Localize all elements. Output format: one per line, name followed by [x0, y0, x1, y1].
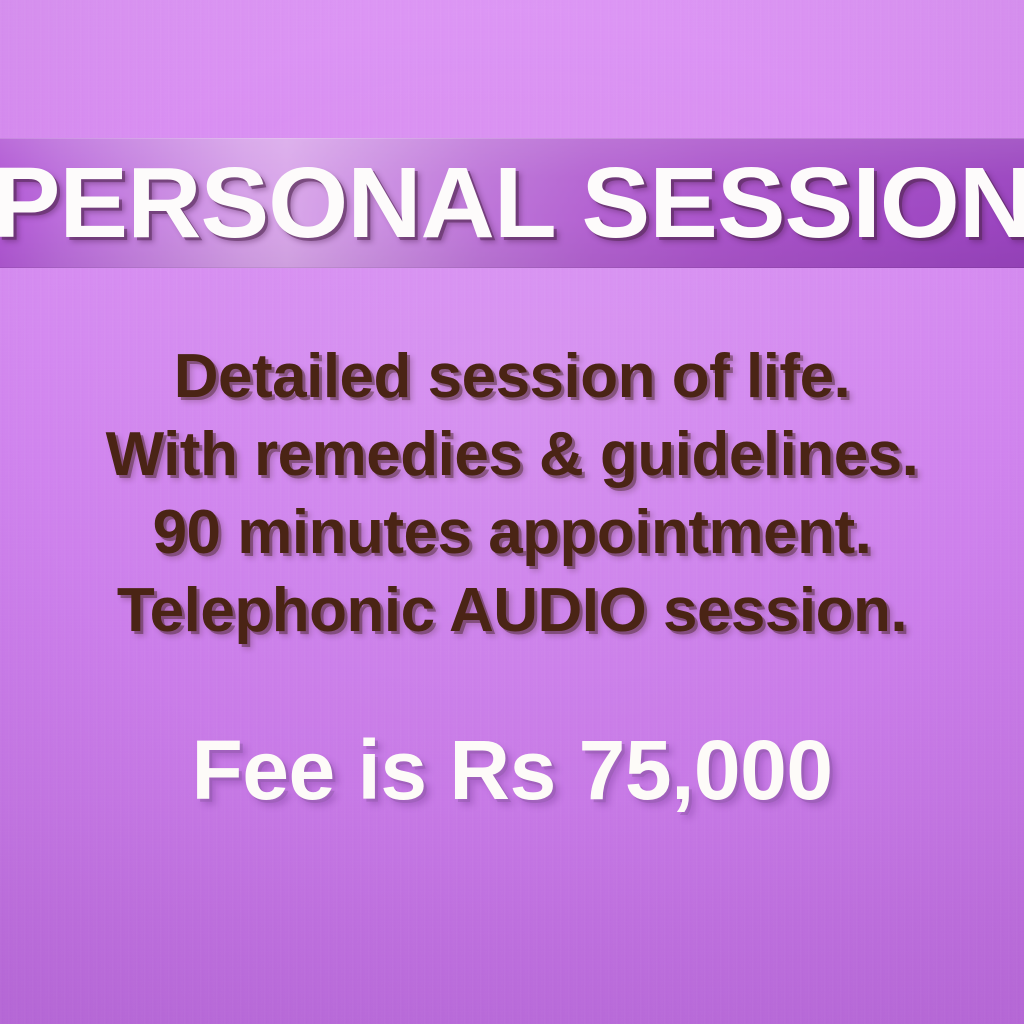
description-block: Detailed session of life. With remedies …	[0, 338, 1024, 650]
description-line-1: Detailed session of life.	[0, 338, 1024, 416]
description-line-3: 90 minutes appointment.	[0, 494, 1024, 572]
fee-label: Fee is Rs 75,000	[0, 722, 1024, 818]
title-band: PERSONAL SESSION	[0, 138, 1024, 268]
page-title: PERSONAL SESSION	[0, 138, 1024, 268]
promo-poster: PERSONAL SESSION Detailed session of lif…	[0, 0, 1024, 1024]
description-line-2: With remedies & guidelines.	[0, 416, 1024, 494]
description-line-4: Telephonic AUDIO session.	[0, 572, 1024, 650]
